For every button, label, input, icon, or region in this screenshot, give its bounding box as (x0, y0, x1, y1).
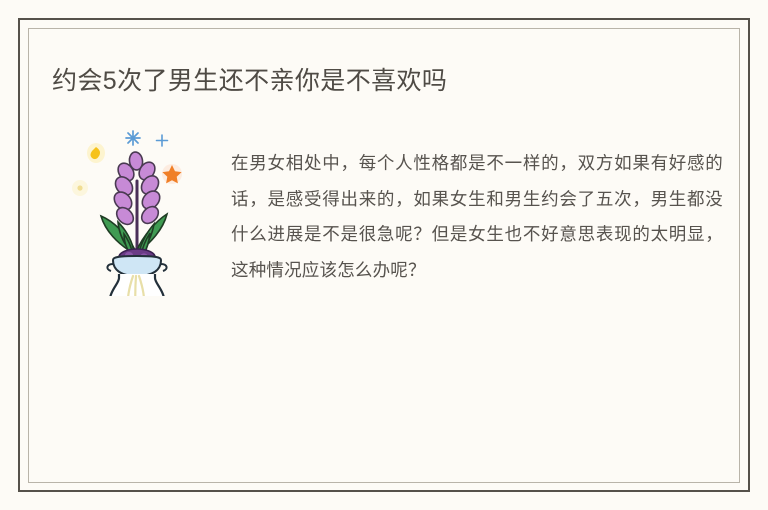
teardrop-sparkle-icon (87, 143, 105, 163)
plus-sparkle-icon (157, 135, 168, 146)
jar-collar (107, 256, 166, 276)
faint-dot-sparkle-icon (72, 180, 88, 196)
article-body: 在男女相处中，每个人性格都是不一样的，双方如果有好感的话，是感受得出来的，如果女… (231, 146, 723, 288)
hyacinth-illustration (55, 126, 220, 296)
page-title: 约会5次了男生还不亲你是不喜欢吗 (52, 64, 712, 98)
snowflake-sparkle-icon (126, 131, 140, 145)
article-page: 约会5次了男生还不亲你是不喜欢吗 (0, 0, 768, 510)
star-sparkle-icon (162, 164, 182, 184)
